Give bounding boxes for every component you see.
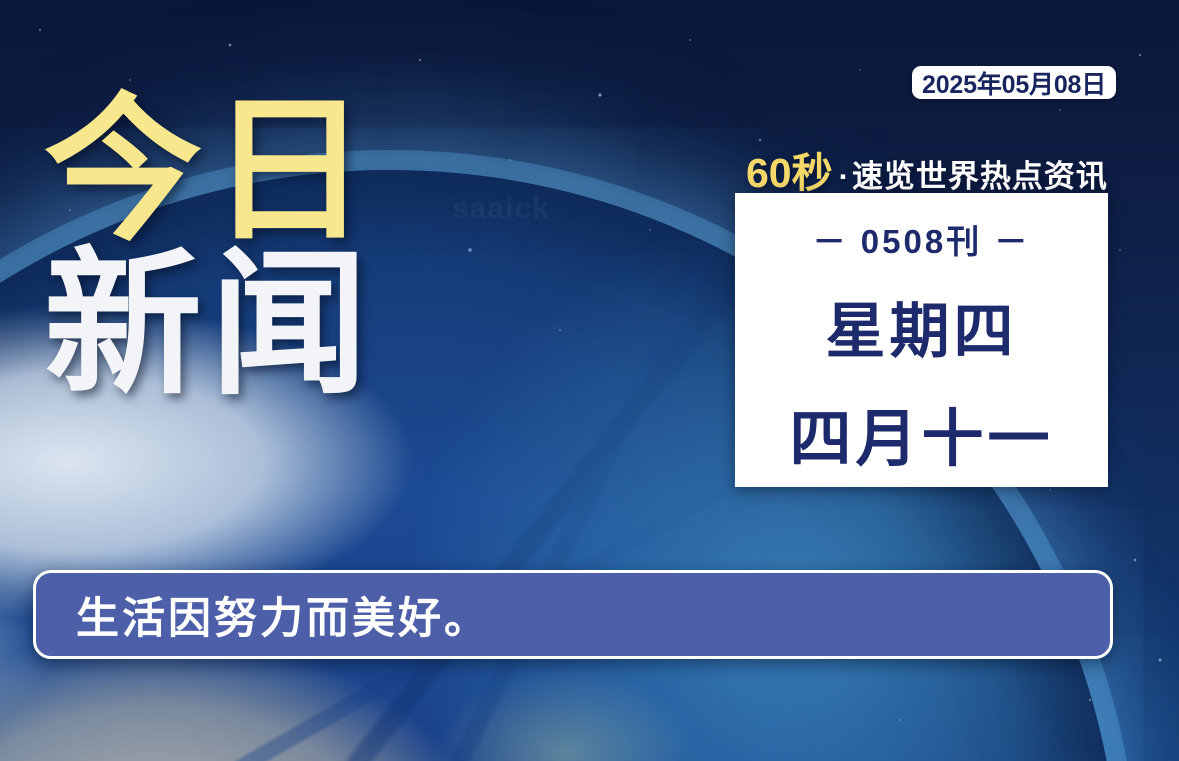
card-issue-number: － 0508刊 － [813, 215, 1031, 263]
headline-line-news: 新闻 [44, 250, 474, 400]
card-weekday: 星期四 [826, 283, 1018, 370]
issue-card: － 0508刊 － 星期四 四月十一 [735, 193, 1108, 487]
card-lunar-date: 四月十一 [789, 388, 1053, 478]
date-badge: 2025年05月08日 [912, 66, 1116, 99]
quote-text: 生活因努力而美好。 [76, 584, 490, 646]
slogan-seconds: 60秒 [746, 139, 833, 199]
slogan: 60秒 · 速览世界热点资讯 [746, 139, 1108, 199]
news-poster: saaick 2025年05月08日 今日 新闻 60秒 · 速览世界热点资讯 … [0, 0, 1179, 761]
quote-banner: 生活因努力而美好。 [33, 570, 1113, 659]
slogan-description: 速览世界热点资讯 [852, 151, 1108, 196]
headline-line-today: 今日 [44, 96, 474, 246]
slogan-separator-dot: · [839, 159, 849, 195]
poster-headline: 今日 新闻 [44, 96, 474, 400]
